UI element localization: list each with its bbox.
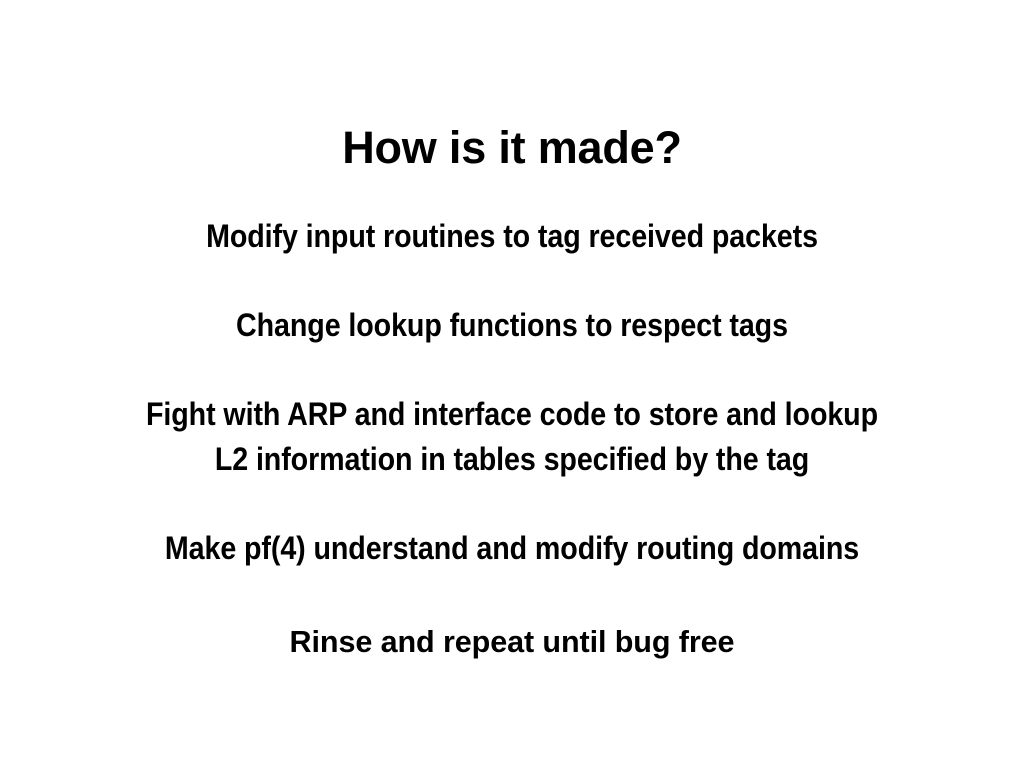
bullet-line: Fight with ARP and interface code to sto… (54, 392, 970, 437)
bullet-line: L2 information in tables specified by th… (54, 437, 970, 482)
bullet-line: Modify input routines to tag received pa… (54, 214, 970, 259)
bullet-rinse-and-repeat: Rinse and repeat until bug free (0, 619, 1024, 664)
slide-body: Modify input routines to tag received pa… (0, 214, 1024, 664)
bullet-line: Make pf(4) understand and modify routing… (54, 526, 970, 571)
bullet-line: Change lookup functions to respect tags (54, 303, 970, 348)
bullet-fight-with-arp: Fight with ARP and interface code to sto… (0, 392, 1024, 482)
block-spacer (0, 259, 1024, 303)
presentation-slide: How is it made? Modify input routines to… (0, 0, 1024, 768)
bullet-modify-input-routines: Modify input routines to tag received pa… (0, 214, 1024, 259)
bullet-make-pf-understand: Make pf(4) understand and modify routing… (0, 526, 1024, 571)
block-spacer (0, 348, 1024, 392)
page-title: How is it made? (0, 122, 1024, 174)
block-spacer (0, 571, 1024, 619)
block-spacer (0, 482, 1024, 526)
bullet-change-lookup-functions: Change lookup functions to respect tags (0, 303, 1024, 348)
bullet-line: Rinse and repeat until bug free (8, 619, 1017, 664)
